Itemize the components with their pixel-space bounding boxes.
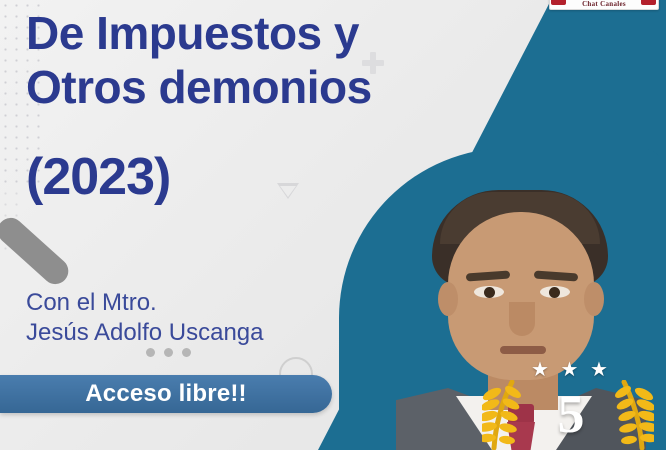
portrait-ear-right bbox=[584, 282, 604, 316]
portrait-mouth bbox=[500, 346, 546, 354]
dot bbox=[182, 348, 191, 357]
portrait-face bbox=[448, 212, 594, 380]
poster-title: De Impuestos y Otros demonios bbox=[26, 6, 456, 114]
portrait-pupil-left bbox=[484, 287, 495, 298]
portrait-pupil-right bbox=[549, 287, 560, 298]
portrait-ear-left bbox=[438, 282, 458, 316]
presenter-name: Jesús Adolfo Uscanga bbox=[26, 318, 346, 348]
ribbon-seal-right-icon bbox=[641, 0, 656, 5]
poster-year: (2023) bbox=[26, 146, 170, 208]
award-badge: ★ ★ ★ bbox=[478, 356, 664, 450]
ribbon-seal-left-icon bbox=[551, 0, 566, 5]
dot bbox=[146, 348, 155, 357]
three-dots-icon bbox=[146, 348, 191, 357]
portrait-nose bbox=[509, 302, 535, 336]
promo-poster: ★ ★ ★ bbox=[0, 0, 666, 450]
access-cta-label: Acceso libre!! bbox=[85, 380, 247, 408]
badge-number: 5 bbox=[534, 382, 608, 446]
access-cta-button[interactable]: Acceso libre!! bbox=[0, 375, 332, 413]
triangle-down-icon bbox=[277, 183, 299, 199]
channel-ribbon-label: Chat Canales bbox=[582, 0, 626, 9]
laurel-wreath-icon bbox=[482, 380, 526, 450]
dot bbox=[164, 348, 173, 357]
poster-title-line-2: Otros demonios bbox=[26, 60, 456, 114]
presenter-prefix: Con el Mtro. bbox=[26, 289, 157, 316]
presenter-credit: Con el Mtro. Jesús Adolfo Uscanga bbox=[26, 288, 346, 348]
poster-title-line-1: De Impuestos y bbox=[26, 7, 359, 59]
laurel-wreath-icon bbox=[610, 380, 654, 450]
